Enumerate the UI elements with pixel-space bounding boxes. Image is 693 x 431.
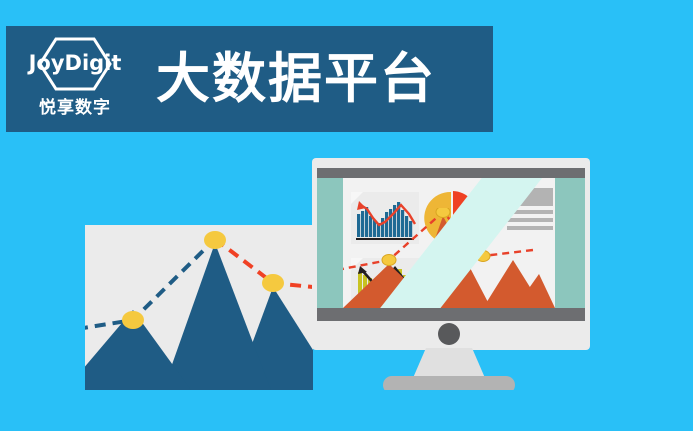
logo: JoyDigit 悦享数字 (20, 35, 130, 123)
monitor-stand-neck (413, 348, 485, 378)
screen-accent-stripe-right (555, 178, 585, 308)
monitor-camera-dot (438, 323, 460, 345)
data-marker (262, 274, 284, 292)
screen-accent-stripe-left (317, 178, 343, 308)
monitor-top-bezel (317, 168, 585, 178)
desktop-monitor (312, 158, 590, 350)
page-title: 大数据平台 (156, 52, 436, 106)
bottom-background-strip (0, 390, 693, 431)
mountain-shape-center (163, 243, 271, 390)
header-bar: JoyDigit 悦享数字 大数据平台 (6, 26, 493, 132)
left-mountain-chart (85, 225, 313, 390)
monitor-screen (317, 178, 585, 308)
mountain-chart-panel (85, 225, 313, 390)
banner-root: JoyDigit 悦享数字 大数据平台 (0, 0, 693, 431)
logo-wordmark: JoyDigit (29, 35, 122, 91)
logo-subtitle: 悦享数字 (39, 93, 111, 118)
data-marker (436, 208, 450, 218)
data-marker (382, 255, 396, 266)
data-marker (122, 311, 144, 329)
data-marker (204, 231, 226, 249)
monitor-bottom-bezel (317, 308, 585, 321)
